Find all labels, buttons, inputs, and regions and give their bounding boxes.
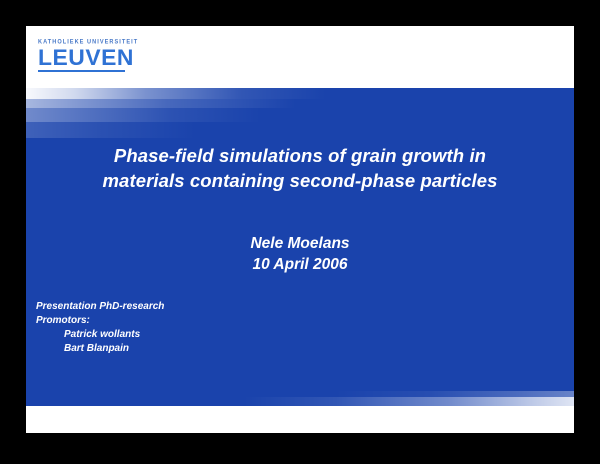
presentation-type-label: Presentation PhD-research bbox=[36, 300, 164, 314]
promotors-block: Presentation PhD-research Promotors: Pat… bbox=[36, 300, 164, 356]
slide-frame: KATHOLIEKE UNIVERSITEIT LEUVEN Phase-fie… bbox=[0, 0, 600, 464]
title-slide-blue-panel: Phase-field simulations of grain growth … bbox=[26, 88, 574, 406]
slide-canvas: KATHOLIEKE UNIVERSITEIT LEUVEN Phase-fie… bbox=[26, 26, 574, 433]
light-streak-bottom-right-upper bbox=[334, 391, 574, 397]
slide-footer bbox=[26, 406, 574, 433]
promotors-label: Promotors: bbox=[36, 314, 164, 328]
author-name: Nele Moelans bbox=[26, 233, 574, 254]
presentation-date: 10 April 2006 bbox=[26, 254, 574, 275]
light-streak-top bbox=[26, 88, 326, 99]
title-line-2: materials containing second-phase partic… bbox=[26, 168, 574, 193]
light-streak-bottom-right bbox=[244, 397, 574, 406]
light-streak-low bbox=[26, 108, 261, 122]
slide-header: KATHOLIEKE UNIVERSITEIT LEUVEN bbox=[26, 26, 574, 88]
logo-wordmark: LEUVEN bbox=[38, 47, 163, 69]
page-title: Phase-field simulations of grain growth … bbox=[26, 143, 574, 193]
author-block: Nele Moelans 10 April 2006 bbox=[26, 233, 574, 275]
light-streak-mid bbox=[26, 99, 296, 108]
logo-underbar bbox=[38, 70, 125, 72]
ku-leuven-logo: KATHOLIEKE UNIVERSITEIT LEUVEN bbox=[38, 39, 158, 72]
promotor-name-2: Bart Blanpain bbox=[36, 342, 164, 356]
promotor-name-1: Patrick wollants bbox=[36, 328, 164, 342]
title-line-1: Phase-field simulations of grain growth … bbox=[26, 143, 574, 168]
light-streak-faint bbox=[26, 122, 196, 138]
